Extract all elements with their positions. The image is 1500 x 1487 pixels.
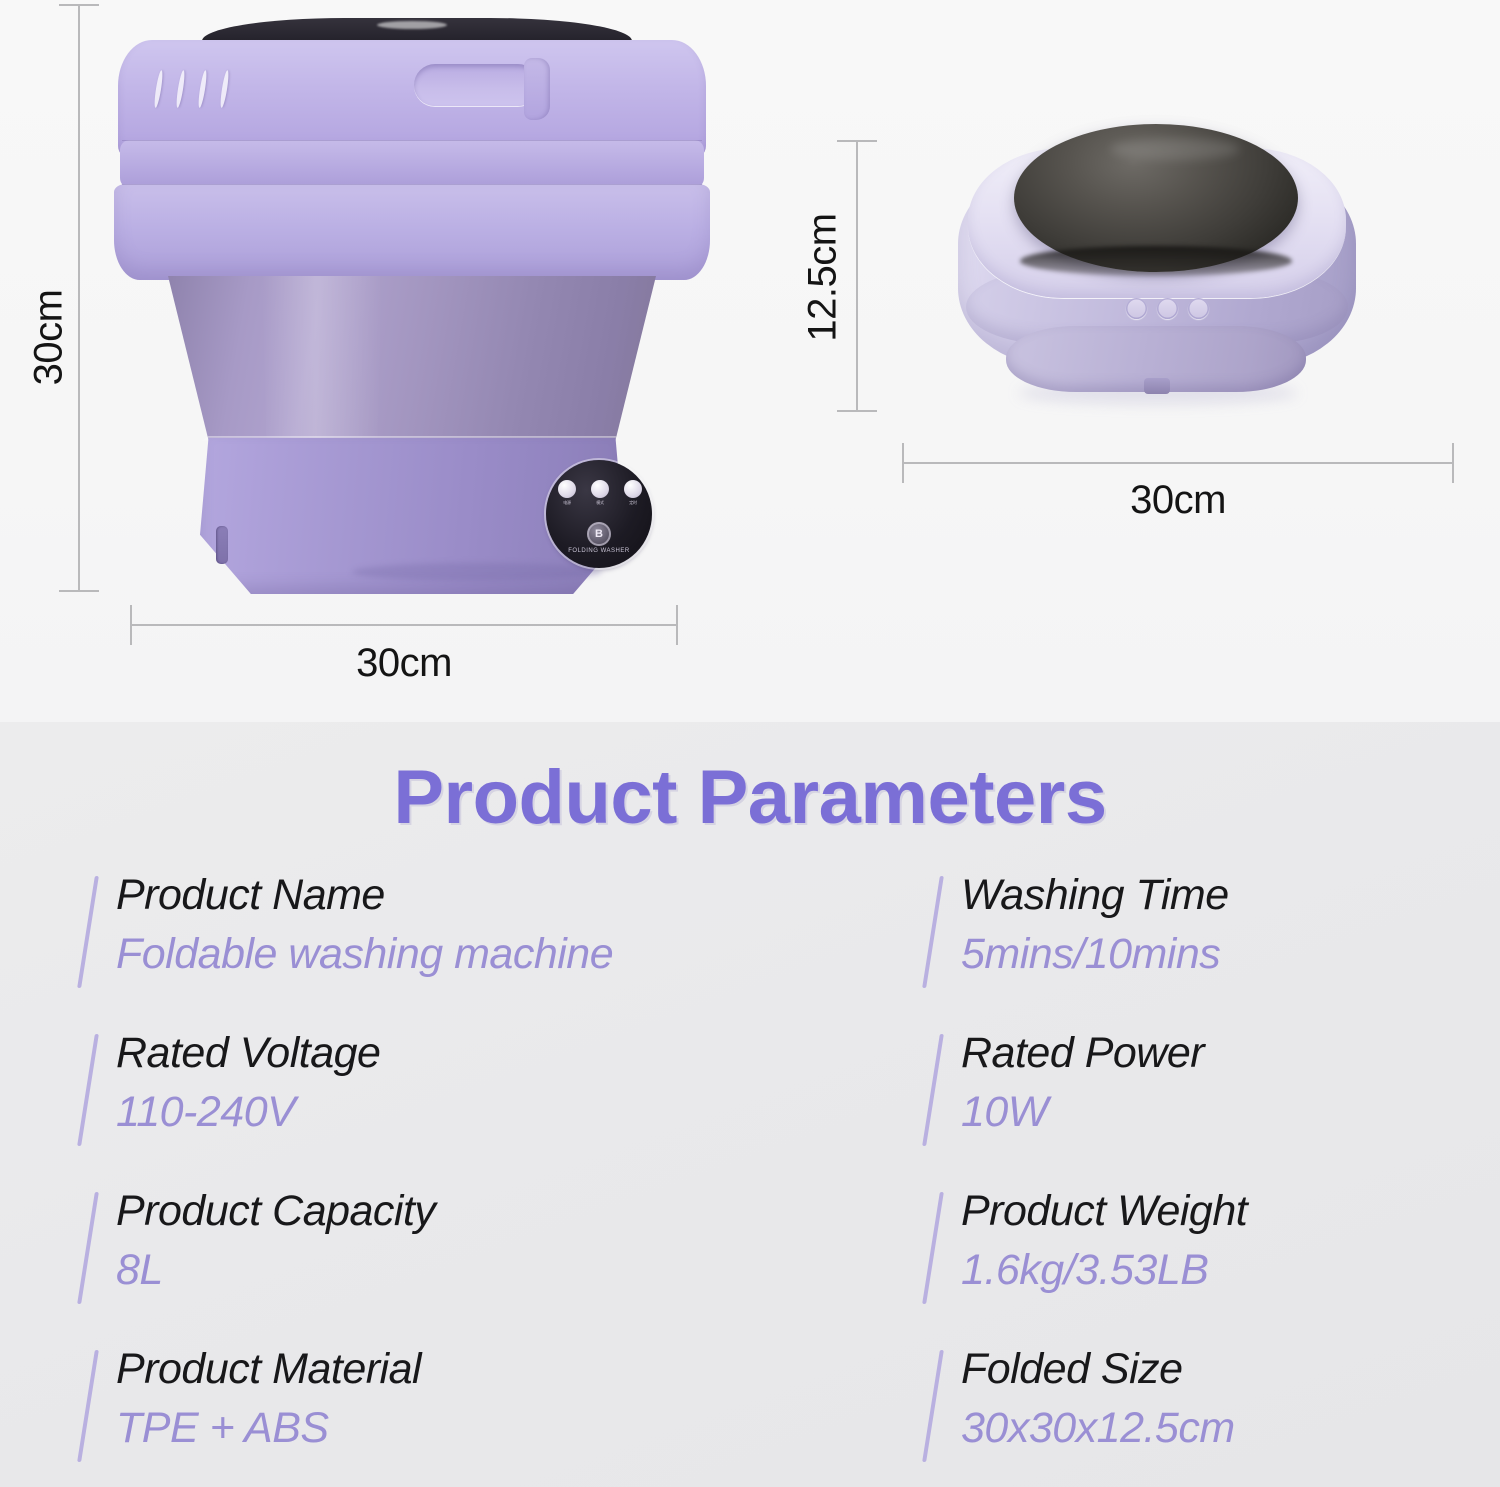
folded-lid-shadow-edge — [1020, 246, 1292, 276]
mode-button-caption: 模式 — [590, 500, 610, 506]
dimension-line-folded-height — [856, 140, 858, 412]
param-label: Folded Size — [961, 1344, 1450, 1395]
mode-button-icon[interactable] — [591, 480, 609, 498]
param-rated-voltage: Rated Voltage 110-240V — [70, 1028, 915, 1186]
brand-text: FOLDING WASHER — [562, 548, 636, 554]
param-value: 1.6kg/3.53LB — [961, 1245, 1450, 1296]
lid-latch-tab — [524, 58, 550, 120]
dimension-label-expanded-height: 30cm — [27, 283, 72, 393]
power-button-caption: 电源 — [557, 500, 577, 506]
param-product-material: Product Material TPE + ABS — [70, 1344, 915, 1487]
param-label: Product Material — [116, 1344, 915, 1395]
body-sheen — [262, 276, 382, 454]
expanded-bellows-body — [168, 276, 656, 454]
param-washing-time: Washing Time 5mins/10mins — [915, 870, 1450, 1028]
parameters-grid: Product Name Foldable washing machine Wa… — [70, 870, 1450, 1487]
param-label: Rated Power — [961, 1028, 1450, 1079]
dimension-line-folded-width — [902, 462, 1454, 464]
folded-timer-button-icon[interactable] — [1188, 298, 1209, 319]
param-label: Washing Time — [961, 870, 1450, 921]
product-photo-section: 30cm — [0, 0, 1500, 722]
product-parameters-section: Product Parameters Product Name Foldable… — [0, 722, 1500, 1487]
timer-button-icon[interactable] — [624, 480, 642, 498]
parameters-title: Product Parameters — [0, 754, 1500, 841]
param-value: 8L — [116, 1245, 915, 1296]
param-value: Foldable washing machine — [116, 929, 915, 980]
expanded-washing-machine-image: 电源 模式 定时 B FOLDING WASHER — [112, 18, 712, 598]
param-rated-power: Rated Power 10W — [915, 1028, 1450, 1186]
dimension-label-folded-height: 12.5cm — [801, 193, 846, 363]
param-product-name: Product Name Foldable washing machine — [70, 870, 915, 1028]
lid-highlight — [377, 21, 447, 29]
param-folded-size: Folded Size 30x30x12.5cm — [915, 1344, 1450, 1487]
collar-seam-line-2 — [122, 184, 702, 185]
accent-bar — [922, 1350, 944, 1462]
accent-bar — [77, 876, 99, 988]
control-panel-buttons[interactable]: 电源 模式 定时 — [558, 480, 642, 502]
folded-power-button-icon[interactable] — [1126, 298, 1147, 319]
lid-handle-recess — [414, 64, 539, 106]
expanded-collar-ring-2 — [120, 140, 704, 188]
dimension-line-expanded-width — [130, 624, 678, 626]
accent-bar — [77, 1350, 99, 1462]
drain-notch — [216, 526, 228, 564]
param-label: Rated Voltage — [116, 1028, 915, 1079]
dimension-label-folded-width: 30cm — [902, 478, 1454, 523]
brand-logo-mark: B — [593, 527, 605, 541]
folded-washing-machine-image — [958, 120, 1358, 420]
accent-bar — [77, 1192, 99, 1304]
vent-slits-icon — [156, 70, 248, 112]
control-panel[interactable]: 电源 模式 定时 B FOLDING WASHER — [546, 460, 652, 568]
param-value: 5mins/10mins — [961, 929, 1450, 980]
param-value: 10W — [961, 1087, 1450, 1138]
param-label: Product Weight — [961, 1186, 1450, 1237]
brand-logo-icon: B — [587, 522, 611, 546]
power-button-icon[interactable] — [558, 480, 576, 498]
expanded-collar-ring-3 — [114, 184, 710, 280]
timer-button-caption: 定时 — [623, 500, 643, 506]
folded-foot — [1144, 378, 1170, 394]
dimension-line-expanded-height — [78, 4, 80, 592]
dimension-label-expanded-width: 30cm — [130, 641, 678, 686]
param-product-capacity: Product Capacity 8L — [70, 1186, 915, 1344]
param-value: 110-240V — [116, 1087, 915, 1138]
product-infographic: 30cm — [0, 0, 1500, 1487]
param-label: Product Name — [116, 870, 915, 921]
accent-bar — [77, 1034, 99, 1146]
collar-seam-line — [122, 140, 702, 141]
accent-bar — [922, 1034, 944, 1146]
param-value: TPE + ABS — [116, 1403, 915, 1454]
folded-lid-highlight — [1110, 138, 1240, 160]
folded-control-buttons[interactable] — [1126, 298, 1210, 320]
accent-bar — [922, 876, 944, 988]
param-label: Product Capacity — [116, 1186, 915, 1237]
param-product-weight: Product Weight 1.6kg/3.53LB — [915, 1186, 1450, 1344]
accent-bar — [922, 1192, 944, 1304]
base-bottom-lip-shadow — [352, 563, 602, 581]
param-value: 30x30x12.5cm — [961, 1403, 1450, 1454]
folded-mode-button-icon[interactable] — [1157, 298, 1178, 319]
